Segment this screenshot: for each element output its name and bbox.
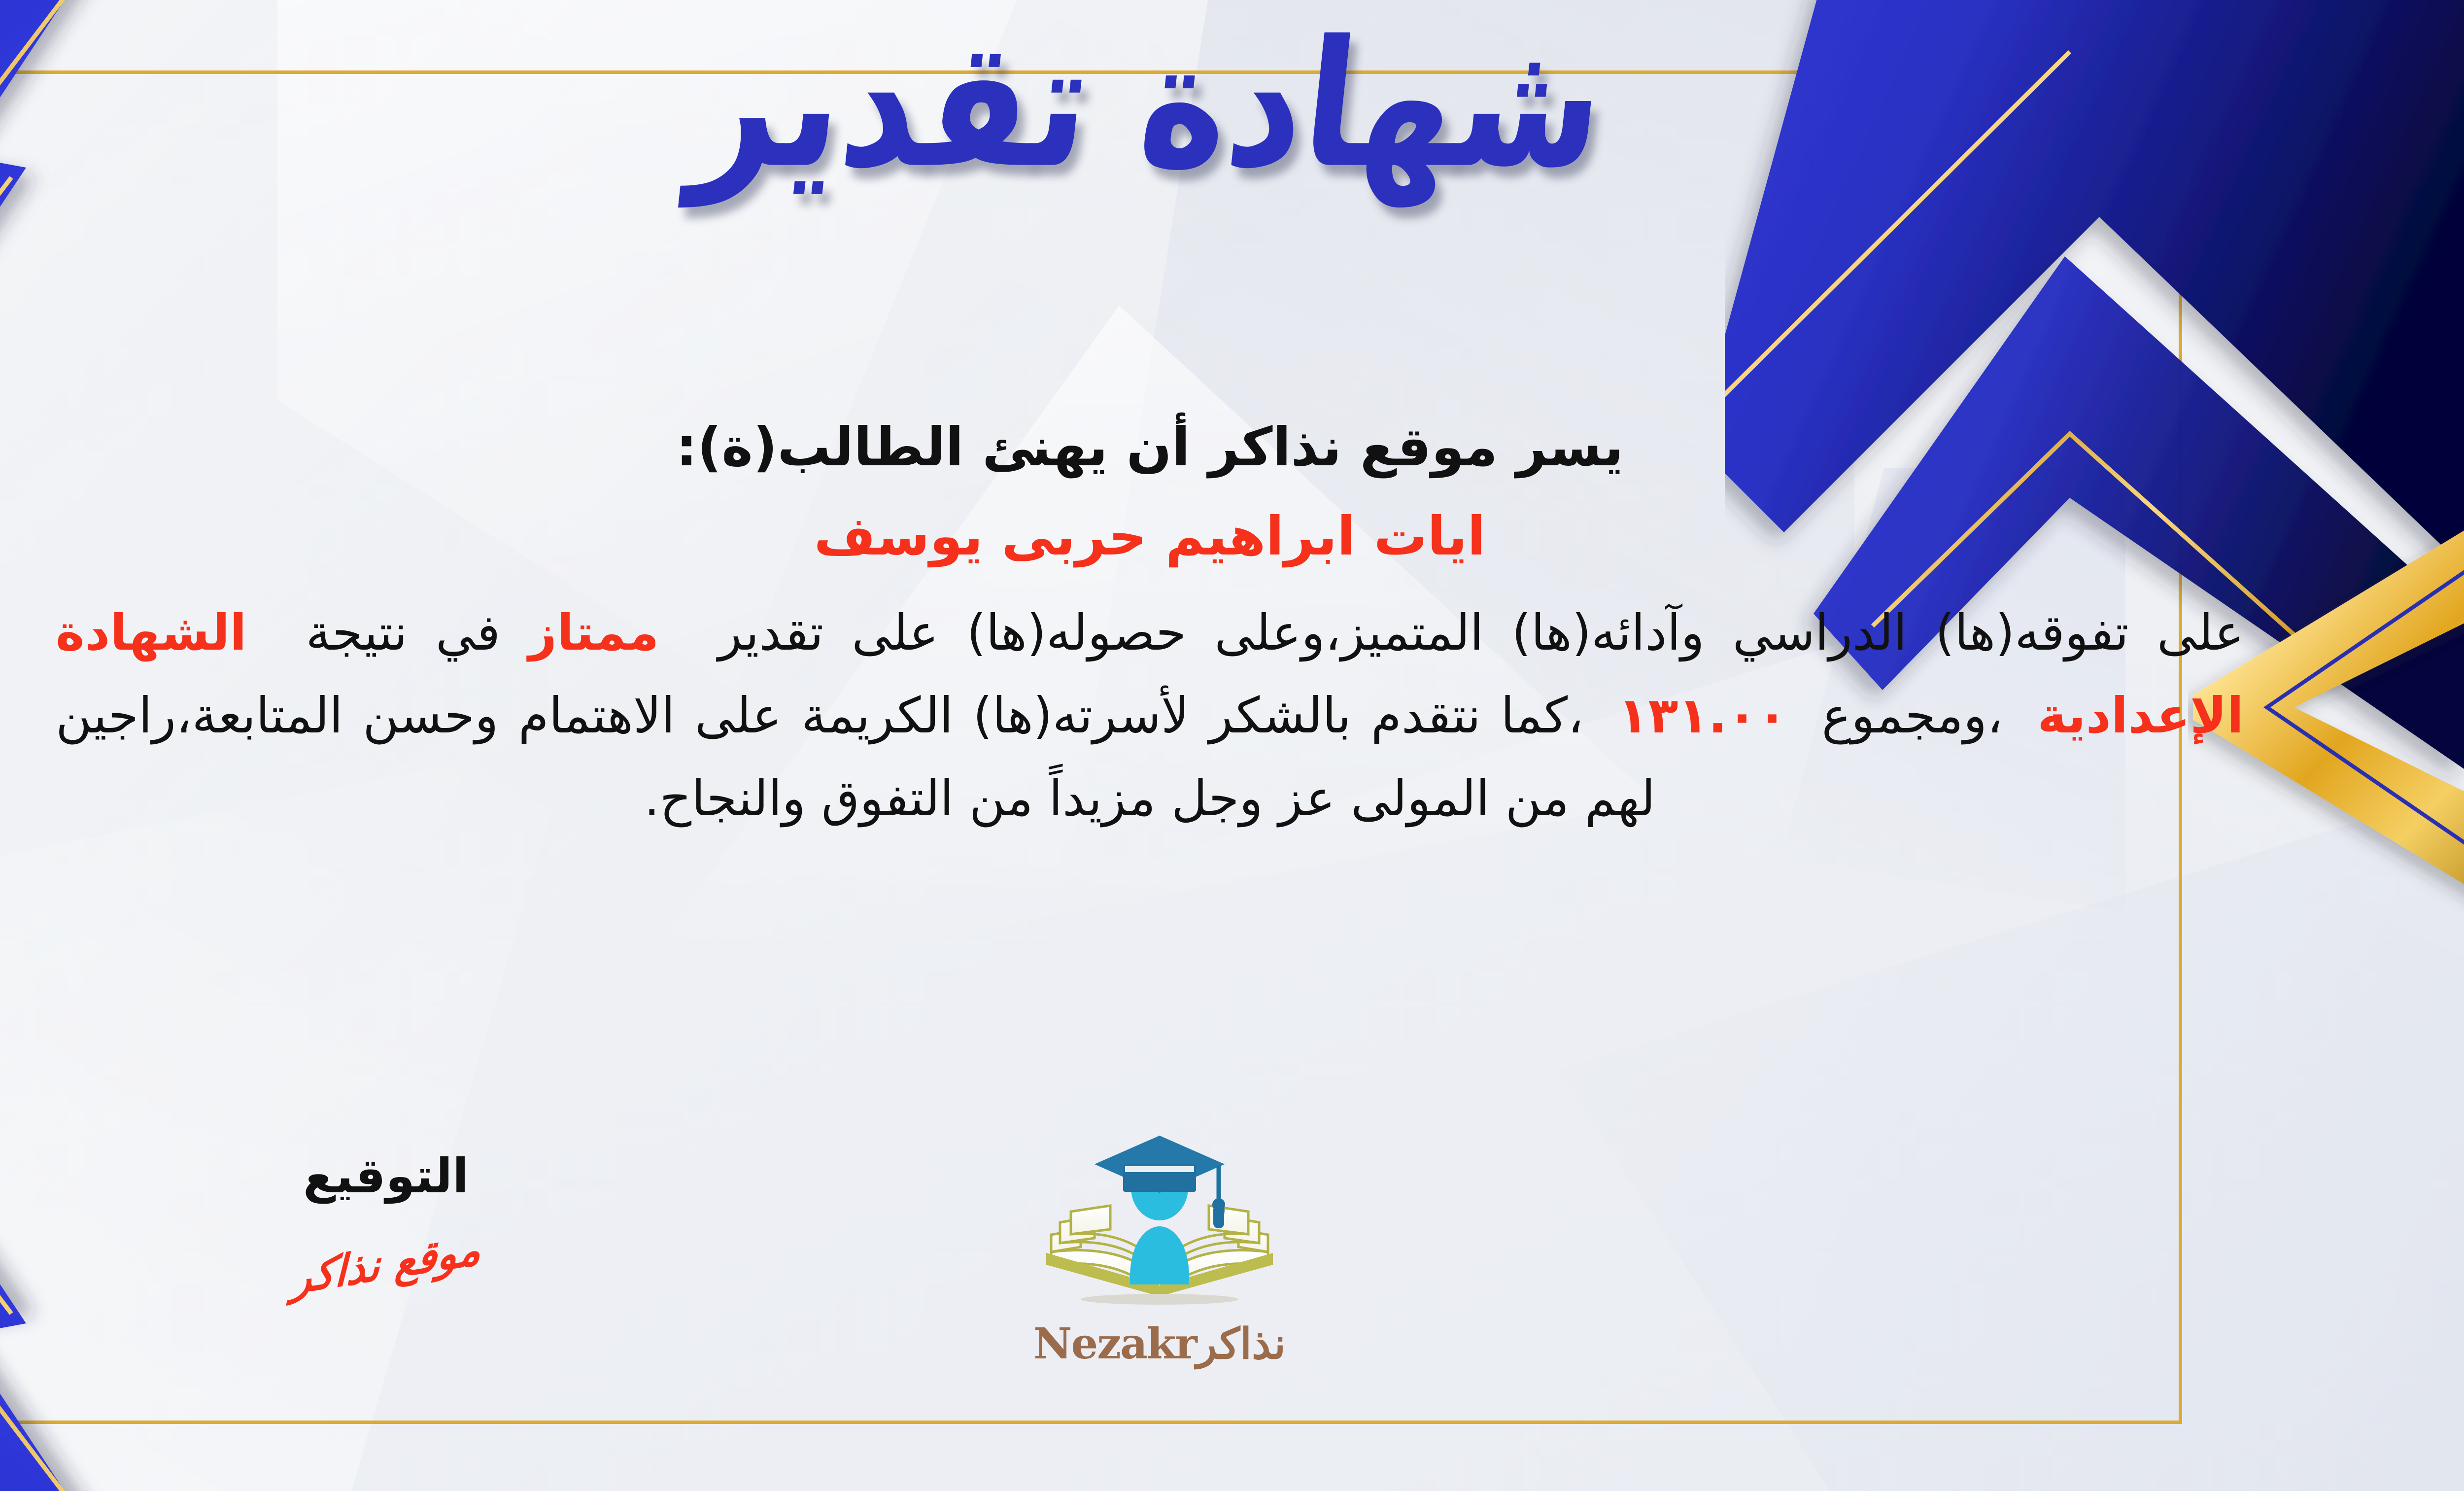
brand-wordmark-latin: Nezakr bbox=[1033, 1319, 1197, 1369]
brand-wordmark: نذاكرNezakr bbox=[967, 1319, 1352, 1369]
total-score: ١٣١.٠٠ bbox=[1618, 687, 1787, 744]
signature-mark: موقع نذاكر bbox=[291, 1224, 481, 1304]
certificate-title: شهادة تقدير bbox=[0, 13, 2464, 197]
citation-line-2-mid: ،ومجموع bbox=[1822, 687, 2003, 744]
brand-wordmark-arabic: نذاكر bbox=[1197, 1319, 1286, 1369]
grade-value: ممتاز bbox=[528, 604, 659, 661]
frame-border-bottom bbox=[0, 1421, 2182, 1424]
certificate-body: يسر موقع نذاكر أن يهنئ الطالب(ة): ايات ا… bbox=[26, 414, 2273, 840]
certificate-page: شهادة تقدير يسر موقع نذاكر أن يهنئ الطال… bbox=[0, 0, 2464, 1491]
citation-line-4: مزيداً من التفوق والنجاح. bbox=[644, 769, 1156, 827]
graduation-book-icon bbox=[1031, 1129, 1288, 1316]
signature-label: التوقيع bbox=[208, 1148, 563, 1204]
citation-line-1: على تفوقه(ها) الدراسي وآدائه(ها) المتميز… bbox=[718, 604, 2244, 661]
brand-logo: نذاكرNezakr bbox=[967, 1129, 1352, 1369]
greeting-line: يسر موقع نذاكر أن يهنئ الطالب(ة): bbox=[26, 414, 2273, 481]
citation-paragraph: على تفوقه(ها) الدراسي وآدائه(ها) المتميز… bbox=[26, 591, 2273, 840]
citation-line-2-prefix: في نتيجة bbox=[306, 604, 501, 661]
student-name: ايات ابراهيم حربى يوسف bbox=[26, 503, 2273, 570]
signature-block: التوقيع موقع نذاكر bbox=[208, 1148, 563, 1289]
citation-line-2-suffix: ،كما نتقدم بالشكر لأسرته(ها) bbox=[973, 687, 1583, 744]
